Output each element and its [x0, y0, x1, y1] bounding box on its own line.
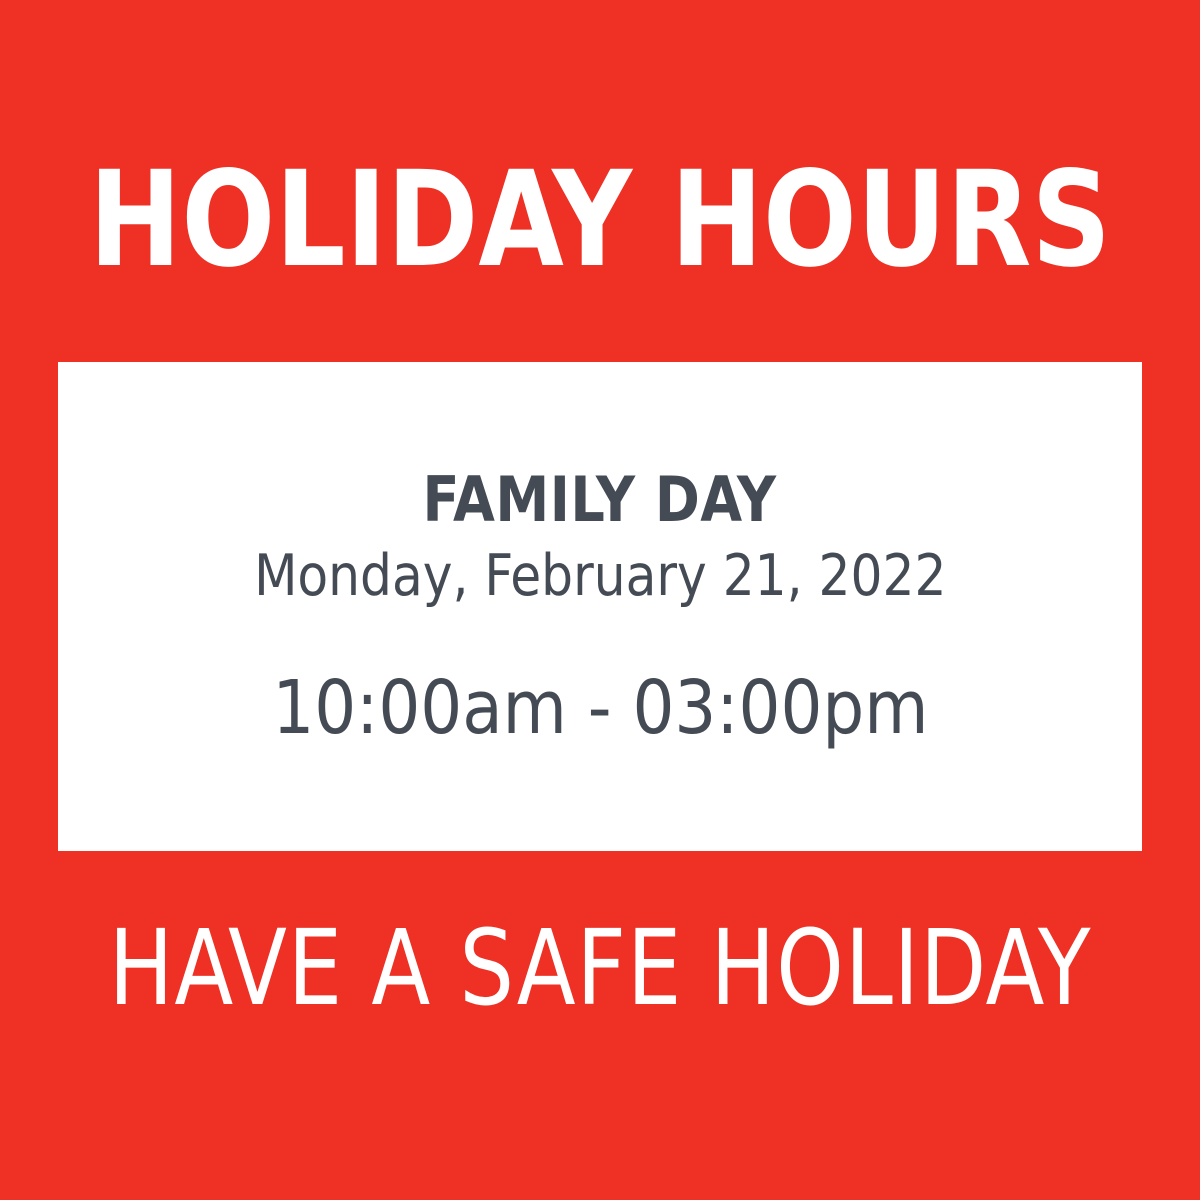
page-title: HOLIDAY HOURS: [42, 150, 1158, 290]
holiday-details-content: FAMILY DAY Monday, February 21, 2022 10:…: [58, 362, 1142, 851]
footer-message: HAVE A SAFE HOLIDAY: [48, 912, 1152, 1024]
holiday-hours-notice: HOLIDAY HOURS FAMILY DAY Monday, Februar…: [0, 0, 1200, 1200]
event-name: FAMILY DAY: [423, 467, 777, 533]
holiday-details-card: FAMILY DAY Monday, February 21, 2022 10:…: [58, 362, 1142, 851]
event-hours: 10:00am - 03:00pm: [272, 669, 928, 747]
event-date: Monday, February 21, 2022: [254, 545, 946, 607]
